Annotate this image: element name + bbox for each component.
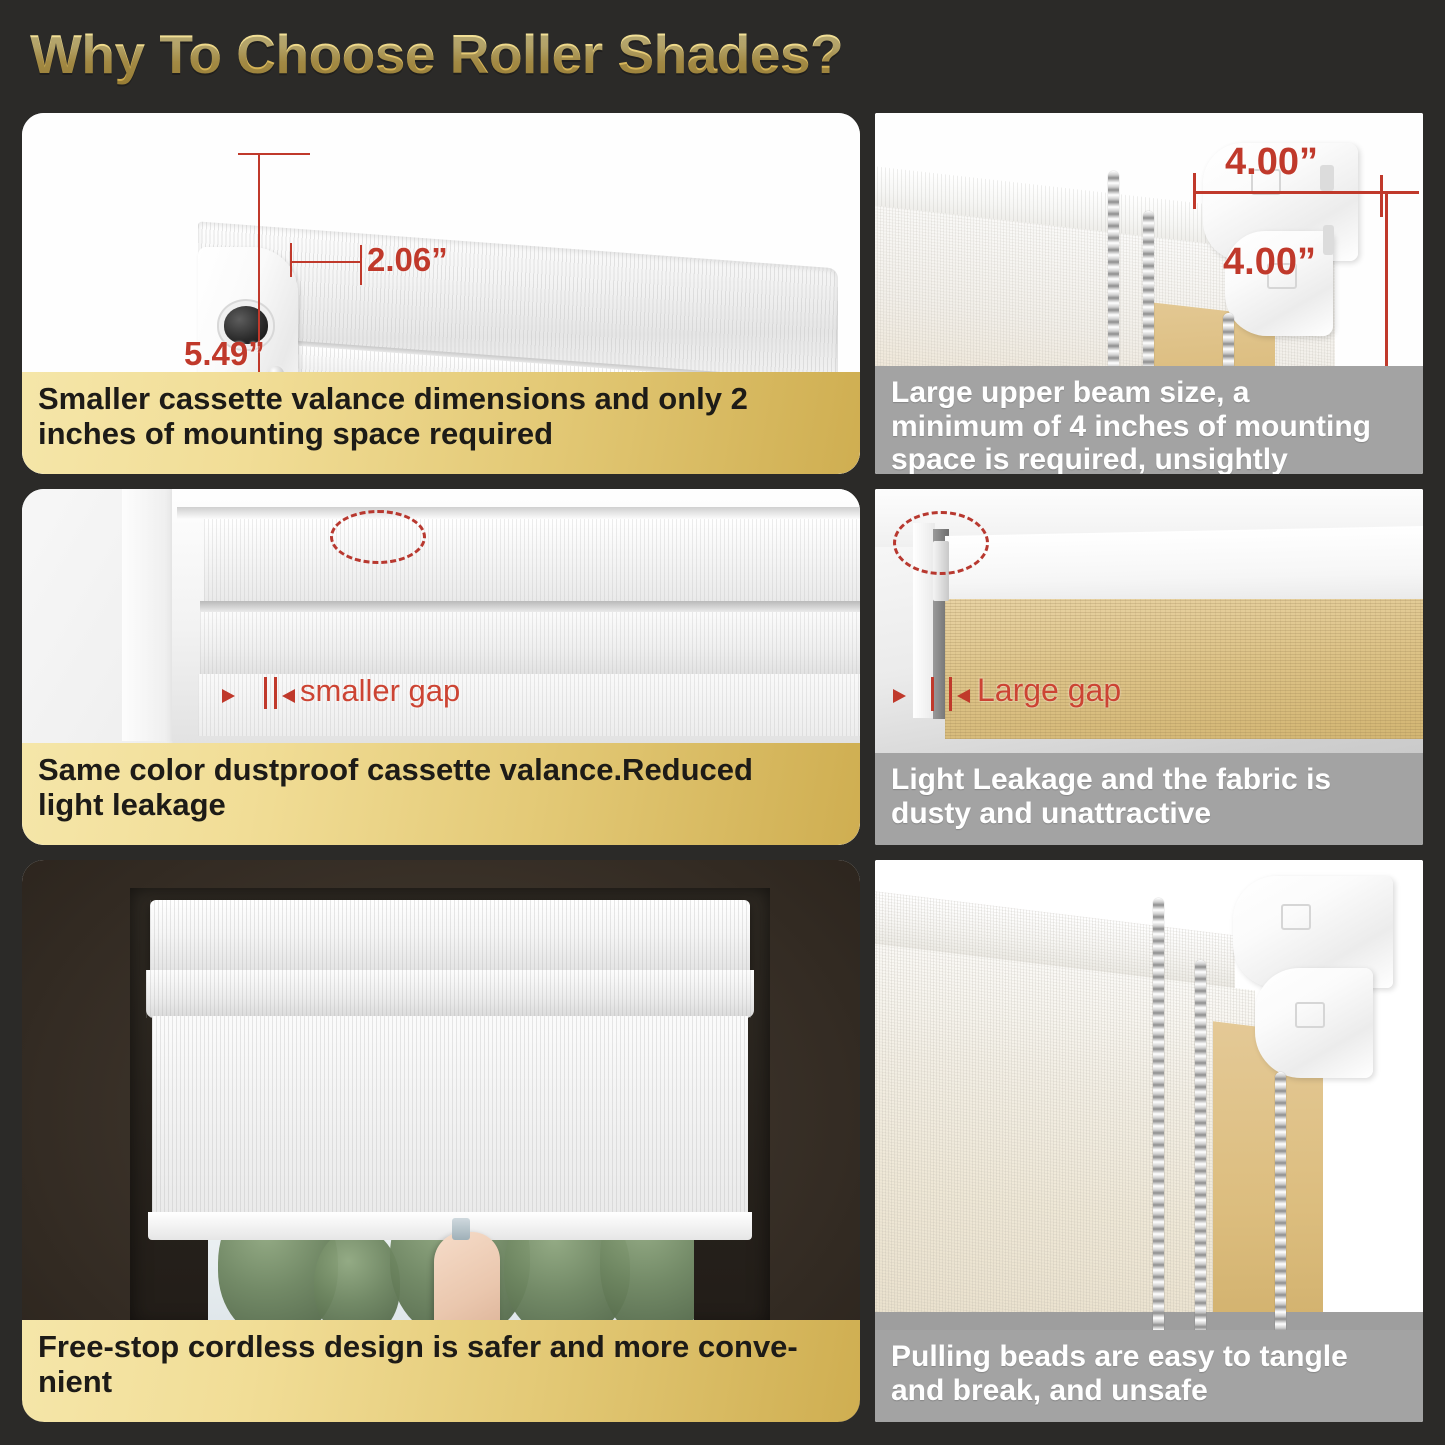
- gap-edge-tick-right: [274, 677, 277, 709]
- bracket-notch-icon-2: [1323, 225, 1334, 255]
- gap-label: smaller gap: [300, 673, 460, 709]
- caption-line-2: inches of mounting space required: [38, 417, 844, 452]
- caption-line-2: dusty and unattractive: [891, 797, 1407, 831]
- frame-shadow: [177, 507, 860, 519]
- gap-label: Large gap: [977, 672, 1121, 709]
- panel-3-caption: Same color dustproof cassette valance.Re…: [22, 743, 860, 845]
- panel-5-caption: Free-stop cordless design is safer and m…: [22, 1320, 860, 1422]
- panel-dustproof-cassette: smaller gap Same color dustproof cassett…: [22, 489, 860, 845]
- height-dimension-tick-top: [238, 153, 310, 155]
- caption-line-1: Free-stop cordless design is safer and m…: [38, 1330, 844, 1365]
- width-dimension-tick-right: [360, 245, 362, 285]
- gap-highlight-ellipse: [893, 511, 989, 575]
- width-dimension-tick-left: [290, 243, 292, 277]
- caption-line-2: minimum of 4 inches of mounting: [891, 410, 1407, 444]
- gap-edge-tick-left: [264, 677, 267, 709]
- panel-light-leakage: Large gap Light Leakage and the fabric i…: [875, 489, 1423, 845]
- width-dimension-line: [290, 261, 362, 263]
- page-title: Why To Choose Roller Shades?: [30, 22, 843, 86]
- shade-fabric-lower: [198, 674, 860, 736]
- beam-width-dimension-line: [1193, 191, 1383, 194]
- panel-pulling-beads: Pulling beads are easy to tangle and bre…: [875, 860, 1423, 1422]
- gap-arrow-right-icon: [282, 689, 295, 703]
- panel-smaller-cassette: 5.49” 2.06” Smaller cassette valance dim…: [22, 113, 860, 474]
- infographic-page: Why To Choose Roller Shades? 5.49” 2.06”…: [0, 0, 1445, 1445]
- pull-tab: [452, 1218, 470, 1240]
- height-dimension-label: 5.49”: [184, 335, 265, 373]
- caption-line-1: Pulling beads are easy to tangle: [891, 1340, 1407, 1374]
- bead-chain-middle: [1195, 960, 1206, 1350]
- gap-edge-tick-left: [931, 677, 934, 711]
- shade-fabric: [152, 1016, 748, 1218]
- beam-width-label: 4.00”: [1225, 141, 1318, 184]
- cassette-lip: [146, 970, 754, 1018]
- cassette-valance-front: [204, 519, 860, 605]
- caption-line-1: Same color dustproof cassette valance.Re…: [38, 753, 844, 788]
- gap-arrow-left-icon: [222, 689, 235, 703]
- tree-2: [314, 1228, 400, 1328]
- beam-height-tick-top: [1363, 191, 1419, 194]
- shade-fabric-upper: [200, 612, 860, 674]
- caption-line-1: Large upper beam size, a: [891, 376, 1407, 410]
- tan-shade-fabric: [945, 599, 1423, 739]
- gap-arrow-right-icon: [957, 689, 970, 703]
- floor-strip: [875, 1312, 1423, 1330]
- bead-chain-front: [1153, 898, 1164, 1348]
- gap-highlight-ellipse: [330, 510, 426, 564]
- gap-arrow-left-icon: [893, 689, 906, 703]
- caption-line-1: Smaller cassette valance dimensions and …: [38, 382, 844, 417]
- caption-line-2: light leakage: [38, 788, 844, 823]
- caption-line-2: nient: [38, 1365, 844, 1400]
- panel-large-upper-beam: 4.00” 4.00” Large upper beam size, a min…: [875, 113, 1423, 474]
- panel-cordless-design: Free-stop cordless design is safer and m…: [22, 860, 860, 1422]
- caption-line-2: and break, and unsafe: [891, 1374, 1407, 1408]
- panel-2-caption: Large upper beam size, a minimum of 4 in…: [875, 366, 1423, 474]
- gap-edge-tick-right: [949, 677, 952, 711]
- beam-width-tick-right: [1380, 175, 1383, 217]
- bracket-arrow-icon: [1281, 904, 1311, 930]
- caption-line-3: space is required, unsightly: [891, 443, 1407, 474]
- bead-chain-loop: [1275, 1072, 1286, 1350]
- bracket-arrow-icon-lower: [1295, 1002, 1325, 1028]
- panel-1-caption: Smaller cassette valance dimensions and …: [22, 372, 860, 474]
- panel-4-caption: Light Leakage and the fabric is dusty an…: [875, 753, 1423, 845]
- beam-height-label: 4.00”: [1223, 241, 1316, 284]
- caption-line-1: Light Leakage and the fabric is: [891, 763, 1407, 797]
- panel-6-caption: Pulling beads are easy to tangle and bre…: [875, 1330, 1423, 1422]
- bracket-notch-icon: [1320, 165, 1334, 191]
- cassette-valance: [150, 900, 750, 972]
- beam-width-tick-left: [1193, 173, 1196, 209]
- width-dimension-label: 2.06”: [367, 241, 448, 279]
